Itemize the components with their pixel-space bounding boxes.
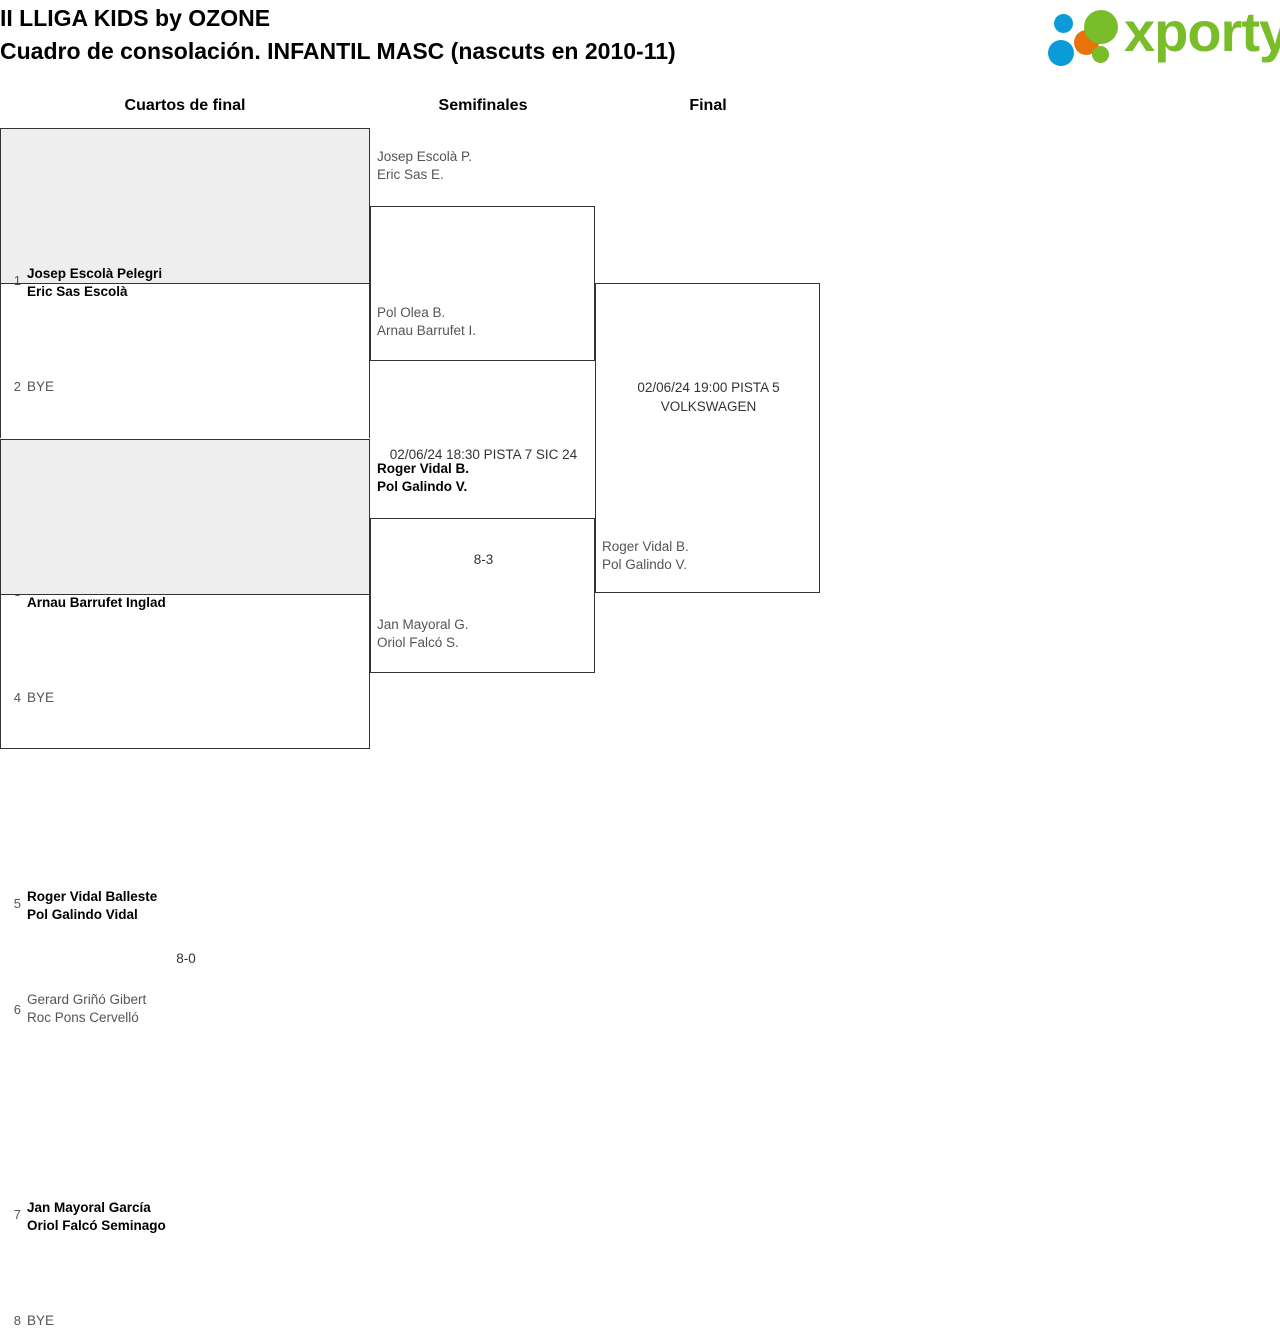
match-quarterfinal-3[interactable]: 5 Roger Vidal Balleste Pol Galindo Vidal…: [0, 439, 370, 594]
round-header-final: Final: [608, 97, 808, 115]
match-quarterfinal-1[interactable]: 1 Josep Escolà Pelegri Eric Sas Escolà 2…: [0, 128, 370, 283]
match-score: 8-0: [1, 951, 371, 966]
match-score: 8-3: [371, 550, 596, 569]
semifinal-1-team-bottom: Pol Olea B. Arnau Barrufet I.: [377, 304, 476, 340]
player-name: Roc Pons Cervelló: [27, 1009, 146, 1027]
match-quarterfinal-2[interactable]: 3 Pol Olea Blanco Arnau Barrufet Inglad …: [0, 283, 370, 438]
player-name: Roger Vidal B.: [602, 538, 689, 556]
player-name: Oriol Falcó Seminago: [27, 1217, 166, 1235]
player-name: Jan Mayoral García: [27, 1199, 166, 1217]
semifinal-2-team-bottom: Jan Mayoral G. Oriol Falcó S.: [377, 616, 469, 652]
xporty-logo[interactable]: xporty: [1048, 4, 1274, 68]
player-name: Gerard Griñó Gibert: [27, 991, 146, 1009]
player-name: Roger Vidal B.: [377, 460, 469, 478]
seed-number: 8: [7, 1313, 21, 1328]
player-name: Oriol Falcó S.: [377, 634, 469, 652]
round-header-semifinals: Semifinales: [383, 97, 583, 115]
match-quarterfinal-4[interactable]: 7 Jan Mayoral García Oriol Falcó Seminag…: [0, 594, 370, 749]
player-name: Eric Sas E.: [377, 166, 472, 184]
match-info: 02/06/24 19:00 PISTA 5 VOLKSWAGEN: [596, 378, 821, 416]
player-name: Jan Mayoral G.: [377, 616, 469, 634]
team-bottom: Gerard Griñó Gibert Roc Pons Cervelló: [27, 991, 146, 1027]
semifinal-2-team-top: Roger Vidal B. Pol Galindo V.: [377, 460, 469, 496]
team-top: Roger Vidal Balleste Pol Galindo Vidal: [27, 888, 157, 924]
seed-number: 6: [7, 1002, 21, 1017]
logo-wordmark: xporty: [1124, 0, 1280, 64]
match-info-line1: 02/06/24 19:00 PISTA 5: [637, 380, 779, 395]
player-name: Pol Galindo V.: [377, 478, 469, 496]
player-name: Arnau Barrufet I.: [377, 322, 476, 340]
title-block: II LLIGA KIDS by OZONE Cuadro de consola…: [0, 2, 676, 68]
round-header-quarterfinals: Cuartos de final: [35, 97, 335, 115]
seed-number: 5: [7, 896, 21, 911]
page-header: II LLIGA KIDS by OZONE Cuadro de consola…: [0, 0, 1280, 78]
player-name: Pol Galindo Vidal: [27, 906, 157, 924]
team-bottom: BYE: [27, 1312, 54, 1330]
team-top: Jan Mayoral García Oriol Falcó Seminago: [27, 1199, 166, 1235]
player-name: Josep Escolà P.: [377, 148, 472, 166]
player-name: Roger Vidal Balleste: [27, 888, 157, 906]
player-name: Pol Galindo V.: [602, 556, 689, 574]
player-name: BYE: [27, 1312, 54, 1330]
match-info-line2: VOLKSWAGEN: [661, 399, 757, 414]
player-name: Josep Escolà Pelegri: [27, 265, 162, 283]
tournament-title: II LLIGA KIDS by OZONE: [0, 2, 676, 35]
seed-number: 7: [7, 1207, 21, 1222]
semifinal-1-team-top: Josep Escolà P. Eric Sas E.: [377, 148, 472, 184]
player-name: Pol Olea B.: [377, 304, 476, 322]
logo-dots-icon: [1048, 10, 1130, 66]
bracket-subtitle: Cuadro de consolación. INFANTIL MASC (na…: [0, 35, 676, 68]
final-team-bottom: Roger Vidal B. Pol Galindo V.: [602, 538, 689, 574]
